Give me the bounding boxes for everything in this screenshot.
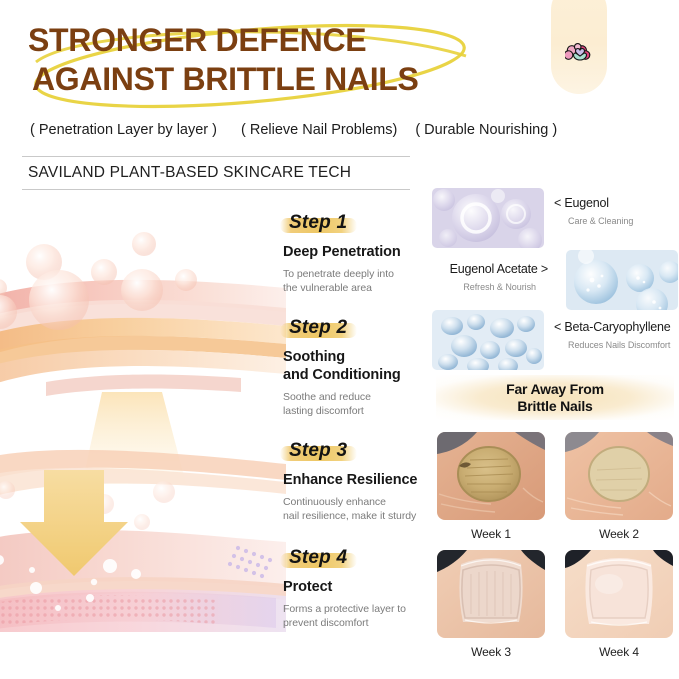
ingredient-sub-1: Care & Cleaning — [554, 216, 679, 226]
page-title: STRONGER DEFENCE AGAINST BRITTLE NAILS — [28, 22, 538, 108]
week-progress-grid: Week 1 — [437, 432, 677, 672]
week-cell-1: Week 1 — [437, 432, 545, 541]
flower-logo-icon — [565, 38, 595, 68]
week-label-2: Week 2 — [565, 527, 673, 541]
subtitle-tag-1: ( Penetration Layer by layer ) — [30, 122, 217, 138]
step-badge-3: Step 3 — [283, 440, 355, 463]
far-away-banner: Far Away From Brittle Nails — [436, 375, 674, 420]
nail-photo-week-4 — [565, 550, 673, 638]
step-item-4: Step 4 Protect Forms a protective layer … — [283, 547, 433, 630]
nail-photo-week-3 — [437, 550, 545, 638]
week-label-1: Week 1 — [437, 527, 545, 541]
blue-water-bubbles-texture — [566, 250, 678, 310]
week-label-4: Week 4 — [565, 645, 673, 659]
subtitle-row: ( Penetration Layer by layer ) ( Relieve… — [30, 122, 660, 138]
ingredients-list: < Eugenol Care & Cleaning — [432, 188, 676, 374]
step-item-2: Step 2 Soothingand Conditioning Soothe a… — [283, 317, 433, 418]
banner-line-1: Far Away From — [506, 381, 604, 398]
step-item-1: Step 1 Deep Penetration To penetrate dee… — [283, 212, 433, 295]
subtitle-tag-2: ( Relieve Nail Problems) — [241, 122, 397, 138]
step-desc-2: Soothe and reducelasting discomfort — [283, 390, 433, 418]
nail-photo-week-1 — [437, 432, 545, 520]
step-badge-4: Step 4 — [283, 547, 355, 570]
ingredient-name-2: Eugenol Acetate > — [428, 262, 548, 276]
banner-line-2: Brittle Nails — [506, 398, 604, 415]
week-cell-3: Week 3 — [437, 550, 545, 659]
ingredient-name-3: < Beta-Caryophyllene — [554, 320, 679, 334]
step-desc-3: Continuously enhancenail resilience, mak… — [283, 495, 433, 523]
step-badge-1: Step 1 — [283, 212, 355, 235]
infographic-root: STRONGER DEFENCE AGAINST BRITTLE NAILS (… — [0, 0, 679, 679]
nail-photo-week-2 — [565, 432, 673, 520]
tech-band-label: SAVILAND PLANT-BASED SKINCARE TECH — [22, 164, 351, 182]
step-item-3: Step 3 Enhance Resilience Continuously e… — [283, 440, 433, 523]
ingredient-name-1: < Eugenol — [554, 196, 679, 210]
step-title-2: Soothingand Conditioning — [283, 348, 433, 384]
title-line-1: STRONGER DEFENCE — [28, 22, 538, 58]
blue-crystal-droplets-texture — [432, 310, 544, 370]
week-cell-2: Week 2 — [565, 432, 673, 541]
subtitle-tag-3: ( Durable Nourishing ) — [415, 122, 557, 138]
step-desc-4: Forms a protective layer toprevent disco… — [283, 602, 433, 630]
week-cell-4: Week 4 — [565, 550, 673, 659]
steps-list: Step 1 Deep Penetration To penetrate dee… — [283, 212, 433, 643]
step-title-1: Deep Penetration — [283, 243, 433, 261]
lavender-bubbles-texture — [432, 188, 544, 248]
step-desc-1: To penetrate deeply intothe vulnerable a… — [283, 267, 433, 295]
ingredient-sub-2: Refresh & Nourish — [428, 282, 548, 292]
tech-band: SAVILAND PLANT-BASED SKINCARE TECH — [22, 156, 410, 190]
step-title-3: Enhance Resilience — [283, 471, 433, 489]
ingredient-sub-3: Reduces Nails Discomfort — [554, 340, 679, 350]
week-label-3: Week 3 — [437, 645, 545, 659]
step-badge-2: Step 2 — [283, 317, 355, 340]
step-title-4: Protect — [283, 578, 433, 596]
title-line-2: AGAINST BRITTLE NAILS — [32, 61, 538, 97]
skin-layers-penetration-illustration — [0, 192, 286, 632]
